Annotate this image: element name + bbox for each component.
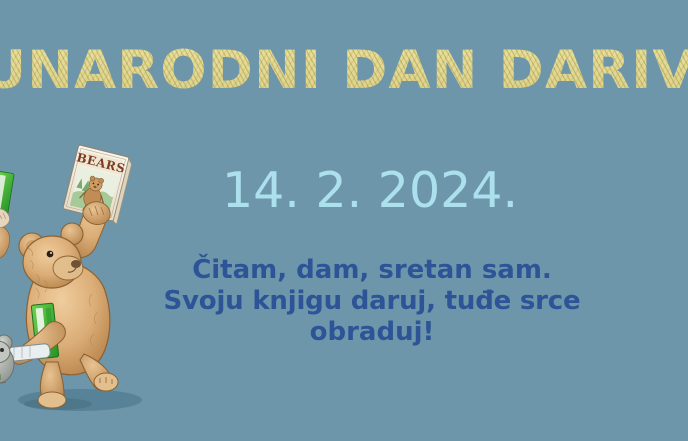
slogan-line-1: Čitam, dam, sretan sam. <box>56 255 688 286</box>
poster-slogan: Čitam, dam, sretan sam. Svoju knjigu dar… <box>0 255 688 348</box>
poster-title-text: MEĐUNARODNI DAN DARIVANJA <box>0 44 688 97</box>
ground-shadow <box>18 389 142 411</box>
poster-date: 14. 2. 2024. <box>0 166 688 215</box>
bear-legs <box>38 354 118 408</box>
slogan-line-2: Svoju knjigu daruj, tuđe srce <box>56 286 688 317</box>
poster-canvas: BEARS <box>0 0 688 441</box>
slogan-line-3: obraduj! <box>56 317 688 348</box>
poster-title: MEĐUNARODNI DAN DARIVANJA <box>0 34 688 106</box>
